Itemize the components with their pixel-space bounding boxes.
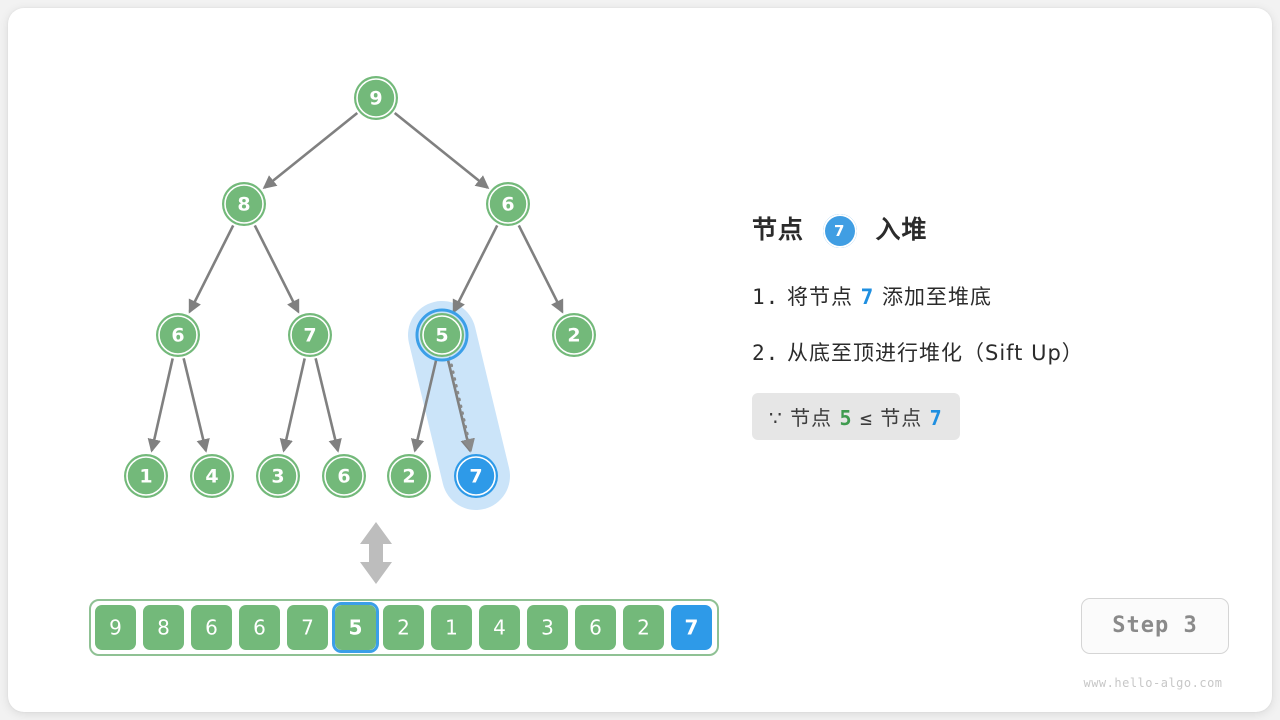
array-cell-value: 4 [493,616,506,640]
array-cell-value: 6 [205,616,218,640]
tree-edge [255,225,299,311]
tree-node[interactable]: 9 [354,76,398,120]
node-value: 3 [271,466,284,488]
tree-edge [316,358,338,450]
watermark: www.hello-algo.com [1073,676,1233,690]
array-representation: 9866752143627 [90,600,718,655]
instruction-step-2: 2. 从底至顶进行堆化（Sift Up） [752,337,1222,367]
panel-title-node-value: 7 [823,214,857,248]
node-value: 9 [369,88,382,110]
array-cell-value: 3 [541,616,554,640]
panel-title-prefix: 节点 [752,215,804,244]
instruction-step-1: 1. 将节点 7 添加至堆底 [752,281,1222,311]
tree-node[interactable]: 5 [417,310,467,360]
node-value: 4 [205,466,218,488]
reason-right-value: 7 [930,406,943,430]
reason-badge: ∵ 节点 5 ≤ 节点 7 [752,393,960,440]
array-cell[interactable]: 4 [479,605,520,650]
node-value: 7 [303,325,316,347]
array-cell[interactable]: 1 [431,605,472,650]
array-cell[interactable]: 9 [95,605,136,650]
tree-node[interactable]: 8 [222,182,266,226]
panel-title-node-badge: 7 [823,214,857,248]
node-value: 6 [171,325,184,347]
tree-edge [264,113,357,188]
node-value: 1 [139,466,152,488]
node-value: 8 [237,194,250,216]
tree-node[interactable]: 1 [124,454,168,498]
array-cell-value: 2 [637,616,650,640]
step-1-text-after: 添加至堆底 [882,285,992,309]
tree-edge [454,225,498,311]
array-cell-value: 7 [301,616,314,640]
array-cell[interactable]: 5 [334,604,378,652]
reason-right-label: 节点 [880,406,922,430]
step-1-value: 7 [861,285,875,309]
array-cell[interactable]: 2 [623,605,664,650]
array-cell[interactable]: 7 [671,605,712,650]
tree-edge [395,113,488,188]
step-2-text-before: 从底至顶进行堆化（Sift Up） [787,341,1084,365]
reason-left-label: 节点 [790,406,832,430]
array-cell-value: 7 [685,616,699,640]
reason-left-value: 5 [839,406,852,430]
tree-node[interactable]: 6 [156,313,200,357]
tree-node[interactable]: 2 [552,313,596,357]
step-1-text-before: 将节点 [787,285,853,309]
tree-node[interactable]: 4 [190,454,234,498]
node-value: 6 [501,194,514,216]
array-cell[interactable]: 6 [575,605,616,650]
tree-edge [190,225,234,311]
tree-node[interactable]: 2 [387,454,431,498]
tree-node[interactable]: 7 [288,313,332,357]
step-1-index: 1. [752,285,779,309]
array-cell[interactable]: 7 [287,605,328,650]
reason-operator: ≤ [860,406,873,430]
array-cell-value: 5 [349,616,363,640]
tree-edges [152,113,563,451]
node-value: 7 [469,466,482,488]
array-cell-value: 2 [397,616,410,640]
node-value: 2 [567,325,580,347]
tree-edge [284,358,305,450]
array-cell-value: 8 [157,616,170,640]
array-cell[interactable]: 8 [143,605,184,650]
panel-title: 节点 7 入堆 [752,205,1222,255]
tree-edge [152,358,173,450]
explanation-panel: 节点 7 入堆 1. 将节点 7 添加至堆底 2. 从底至顶进行堆化（Sift … [752,205,1222,440]
tree-nodes: 9866752143627 [124,76,596,498]
panel-title-suffix: 入堆 [875,215,927,244]
tree-edge [184,358,206,450]
tree-node[interactable]: 3 [256,454,300,498]
tree-node[interactable]: 6 [322,454,366,498]
array-cell-value: 6 [589,616,602,640]
tree-node[interactable]: 6 [486,182,530,226]
tree-array-sync-arrow [360,522,392,584]
diagram-stage: 9866752143627 9866752143627 节点 7 入堆 1. 将… [0,0,1280,720]
array-cell-value: 6 [253,616,266,640]
array-cell[interactable]: 6 [191,605,232,650]
reason-symbol: ∵ [769,406,783,430]
array-cell[interactable]: 3 [527,605,568,650]
node-value: 5 [435,325,448,347]
array-cell-value: 1 [445,616,458,640]
tree-edge [519,225,563,311]
step-2-index: 2. [752,341,779,365]
step-badge: Step 3 [1081,598,1229,654]
tree-node[interactable]: 7 [454,454,498,498]
array-cell-value: 9 [109,616,122,640]
node-value: 2 [402,466,415,488]
array-cell[interactable]: 2 [383,605,424,650]
node-value: 6 [337,466,350,488]
array-cell[interactable]: 6 [239,605,280,650]
